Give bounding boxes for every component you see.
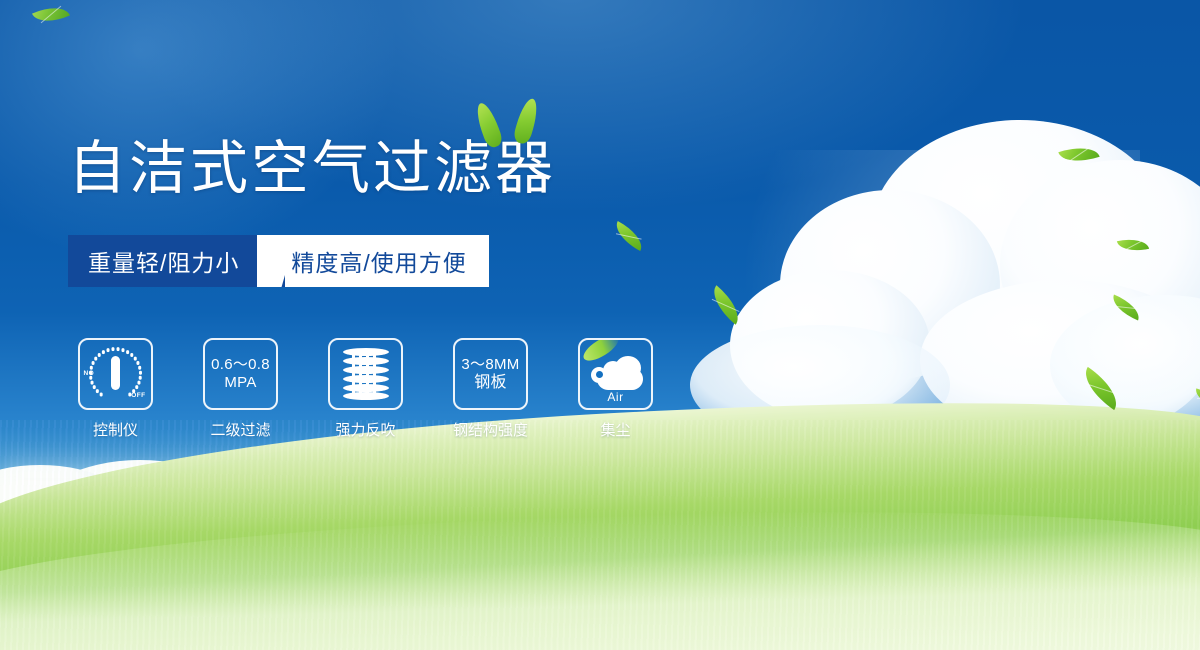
dial-tick	[106, 348, 109, 351]
feature-label: 二级过滤	[210, 419, 270, 440]
dial-graphic: NO OFF	[85, 345, 147, 403]
cartridge-graphic	[343, 348, 389, 400]
dial-tick	[126, 350, 129, 353]
feature-item[interactable]: 3～8MM 钢板 钢结构强度	[453, 338, 528, 440]
title-block: 自洁式空气过滤器	[68, 140, 556, 198]
dial-tick	[93, 385, 96, 388]
feature-label: 集尘	[600, 419, 630, 440]
dial-tick	[121, 348, 124, 351]
feature-item[interactable]: 0.6～0.8 MPA 二级过滤	[203, 338, 278, 440]
dial-tick	[139, 371, 142, 374]
dial-knob	[111, 356, 120, 390]
dial-tick	[137, 381, 140, 384]
feature-label: 控制仪	[93, 419, 138, 440]
feature-list: NO OFF 控制仪 0.6～0.8 MPA 二级过滤	[78, 338, 653, 440]
dial-tick	[134, 357, 137, 360]
filter-cartridge-icon	[328, 338, 403, 410]
dial-tick	[136, 361, 139, 364]
dial-tick	[116, 347, 119, 350]
pressure-unit-text: MPA	[224, 374, 256, 392]
floating-leaf-icon	[32, 0, 70, 29]
control-dial-icon: NO OFF	[78, 338, 153, 410]
tag-secondary: 精度高/使用方便	[285, 235, 488, 287]
dial-right-label: OFF	[131, 392, 145, 399]
steel-thickness-text: 3～8MM	[461, 356, 519, 374]
dial-tick	[89, 376, 92, 379]
dial-tick	[94, 357, 97, 360]
steel-plate-icon: 3～8MM 钢板	[453, 338, 528, 410]
dial-tick	[139, 376, 142, 379]
steel-material-text: 钢板	[474, 374, 507, 392]
tagline-strip: 重量轻/阻力小 精度高/使用方便	[68, 235, 489, 287]
floating-leaf-icon	[705, 285, 747, 325]
dial-tick	[135, 385, 138, 388]
cloud-right-cumulus	[720, 120, 1200, 450]
feature-label: 钢结构强度	[453, 419, 528, 440]
feature-item[interactable]: Air 集尘	[578, 338, 653, 440]
dial-tick	[102, 350, 105, 353]
floating-leaf-icon	[610, 221, 648, 251]
dial-tick	[138, 366, 141, 369]
tag-divider-slash	[257, 235, 285, 287]
pressure-value-icon: 0.6～0.8 MPA	[203, 338, 278, 410]
tag-primary: 重量轻/阻力小	[68, 235, 257, 287]
sprout-leaves-icon	[472, 98, 562, 154]
dial-tick	[90, 381, 93, 384]
dial-tick	[130, 353, 133, 356]
floating-leaf-icon	[1058, 141, 1099, 169]
floating-leaf-icon	[1108, 295, 1143, 321]
air-cloud-icon: Air	[578, 338, 653, 410]
dial-tick	[90, 366, 93, 369]
feature-label: 强力反吹	[335, 419, 395, 440]
dial-tick	[99, 393, 102, 396]
pressure-range-text: 0.6～0.8	[211, 356, 270, 374]
feature-item[interactable]: 强力反吹	[328, 338, 403, 440]
dial-tick	[98, 353, 101, 356]
promo-banner: 自洁式空气过滤器 重量轻/阻力小 精度高/使用方便 NO OFF 控制仪 0.6…	[0, 0, 1200, 650]
floating-leaf-icon	[1076, 367, 1126, 410]
floating-leaf-icon	[1117, 235, 1149, 255]
air-label: Air	[585, 390, 647, 404]
dial-tick	[111, 347, 114, 350]
dial-tick	[96, 389, 99, 392]
feature-item[interactable]: NO OFF 控制仪	[78, 338, 153, 440]
dial-tick	[91, 361, 94, 364]
floating-leaf-icon	[1193, 388, 1200, 408]
sky-glow-top-left	[0, 0, 400, 260]
cloud-graphic: Air	[585, 348, 647, 400]
